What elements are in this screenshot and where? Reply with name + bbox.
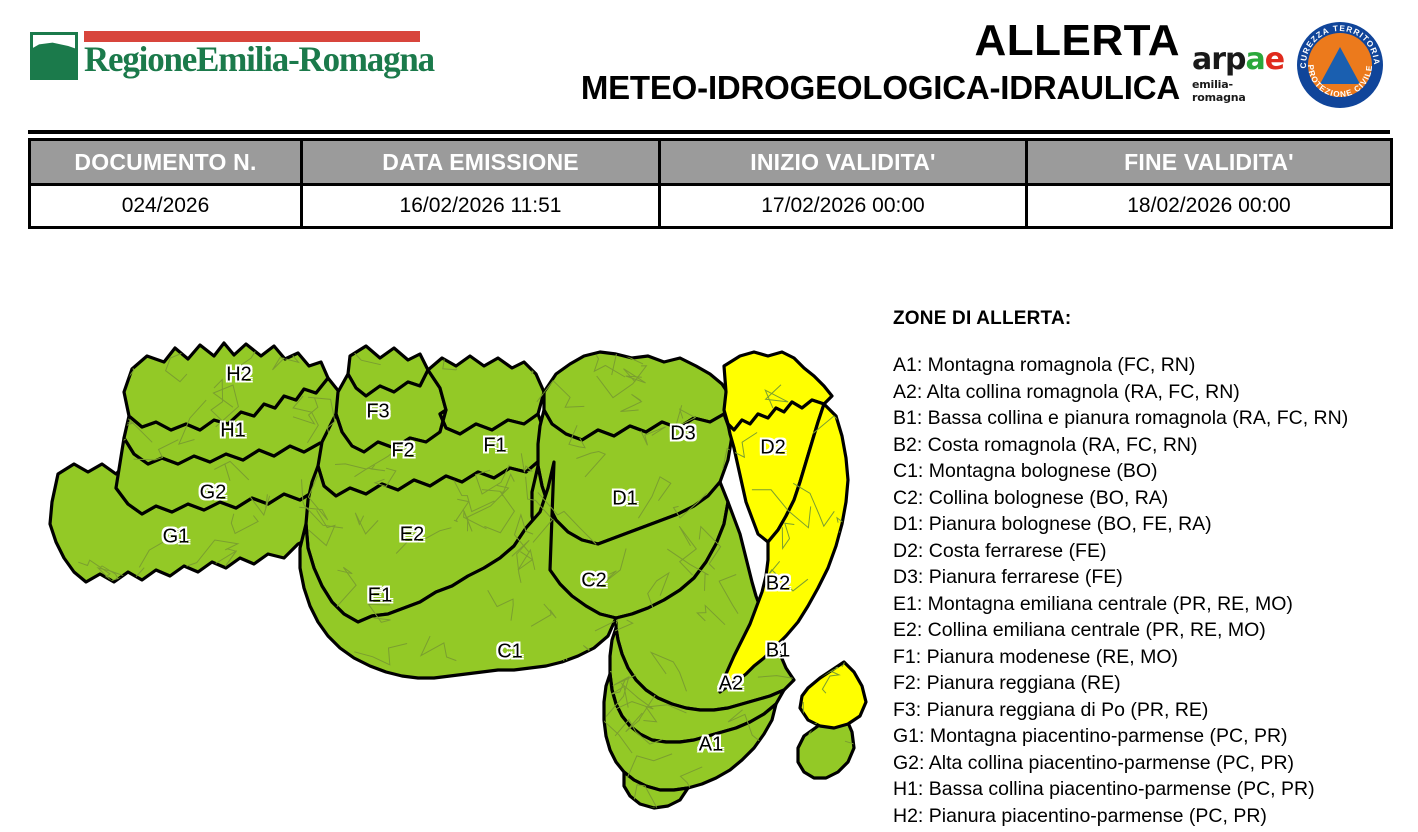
municipality-border [69,729,101,762]
municipality-border [92,591,112,624]
legend-panel: ZONE DI ALLERTA: A1: Montagna romagnola … [893,308,1398,829]
arpae-text-red: e [1265,42,1284,77]
pc-bottom-arc-path: PROTEZIONE CIVILE [1306,64,1374,99]
municipality-border [146,707,195,727]
td-documento-n: 024/2026 [30,185,302,228]
legend-item: F2: Pianura reggiana (RE) [893,670,1398,697]
municipality-border [177,663,202,683]
page-header: RegioneEmilia-Romagna ALLERTA METEO-IDRO… [0,0,1418,126]
municipality-border [309,706,329,732]
municipality-border [268,568,297,615]
legend-item: B1: Bassa collina e pianura romagnola (R… [893,405,1398,432]
legend-item: F1: Pianura modenese (RE, MO) [893,644,1398,671]
municipality-border [285,713,302,732]
page-subtitle: METEO-IDROGEOLOGICA-IDRAULICA [0,70,1180,106]
legend-item: A2: Alta collina romagnola (RA, FC, RN) [893,379,1398,406]
municipality-border [382,682,439,711]
legend-item: G1: Montagna piacentino-parmense (PC, PR… [893,723,1398,750]
legend-item: G2: Alta collina piacentino-parmense (PC… [893,750,1398,777]
legend-item: H1: Bassa collina piacentino-parmense (P… [893,776,1398,803]
municipality-border [124,732,152,789]
municipality-border [200,588,211,609]
municipality-border [236,624,262,649]
municipality-border [566,658,590,676]
map-svg [28,296,873,816]
th-documento-n: DOCUMENTO N. [30,140,302,185]
alert-zones-map: H2H1G2G1F3F2F1E2E1D3D1D2C2C1B2B1A2A1 [28,296,873,816]
municipality-border [33,414,62,426]
municipality-border [238,576,278,604]
legend-item: E1: Montagna emiliana centrale (PR, RE, … [893,591,1398,618]
legend-item: D3: Pianura ferrarese (FE) [893,564,1398,591]
pc-top-arc-text: SICUREZZA TERRITORIALE [1297,22,1381,68]
pc-bottom-arc-text: PROTEZIONE CIVILE [1306,64,1374,99]
municipality-border [828,806,844,816]
municipality-border [285,681,317,700]
municipality-border [244,758,266,799]
legend-item: D1: Pianura bolognese (BO, FE, RA) [893,511,1398,538]
th-fine-validita: FINE VALIDITA' [1027,140,1392,185]
legend-item: E2: Collina emiliana centrale (PR, RE, M… [893,617,1398,644]
municipality-border [368,791,396,816]
protezione-civile-ring-text: SICUREZZA TERRITORIALE PROTEZIONE CIVILE [1297,22,1383,108]
municipality-border [397,745,418,769]
td-inizio-validita: 17/02/2026 00:00 [660,185,1027,228]
td-fine-validita: 18/02/2026 00:00 [1027,185,1392,228]
arpae-text-black: arp [1192,42,1246,77]
municipality-border [583,645,612,672]
municipality-border [28,354,69,394]
municipality-border [138,786,158,814]
arpae-logo: arpae emilia-romagna [1192,45,1284,97]
municipality-border [352,708,379,725]
municipality-border [73,407,94,448]
municipality-border [174,693,201,713]
municipality-border [605,802,627,816]
page-title: ALLERTA [0,18,1180,64]
municipality-border [504,804,540,816]
arpae-text-green: a [1246,42,1265,77]
th-data-emissione: DATA EMISSIONE [302,140,660,185]
pc-top-arc-path: SICUREZZA TERRITORIALE [1297,22,1381,68]
municipality-border [323,300,365,340]
th-inizio-validita: INIZIO VALIDITA' [660,140,1027,185]
municipality-border [527,336,544,349]
arpae-subtitle: emilia-romagna [1192,78,1284,104]
table-row: 024/2026 16/02/2026 11:51 17/02/2026 00:… [30,185,1392,228]
municipality-border [194,726,238,753]
td-data-emissione: 16/02/2026 11:51 [302,185,660,228]
legend-item: C2: Collina bolognese (BO, RA) [893,485,1398,512]
legend-item: F3: Pianura reggiana di Po (PR, RE) [893,697,1398,724]
municipality-border [550,797,581,816]
municipality-border [560,756,580,784]
municipality-border [433,780,460,816]
header-divider [28,130,1390,134]
legend-title: ZONE DI ALLERTA: [893,308,1398,330]
legend-item: D2: Costa ferrarese (FE) [893,538,1398,565]
legend-item: B2: Costa romagnola (RA, FC, RN) [893,432,1398,459]
protezione-civile-logo: SICUREZZA TERRITORIALE PROTEZIONE CIVILE [1297,22,1383,108]
municipality-border [454,324,465,355]
legend-item: H2: Pianura piacentino-parmense (PC, PR) [893,803,1398,830]
municipality-border [521,758,534,780]
legend-item: A1: Montagna romagnola (FC, RN) [893,352,1398,379]
table-header-row: DOCUMENTO N. DATA EMISSIONE INIZIO VALID… [30,140,1392,185]
municipality-border [308,777,351,803]
municipality-border [217,777,248,812]
legend-list: A1: Montagna romagnola (FC, RN)A2: Alta … [893,352,1398,829]
municipality-border [101,328,150,356]
municipality-border [559,660,577,707]
municipality-border [391,718,429,752]
municipality-border [316,729,340,752]
document-info-table: DOCUMENTO N. DATA EMISSIONE INIZIO VALID… [28,138,1393,229]
municipality-border [809,608,849,667]
municipality-border [164,786,186,816]
municipality-border [471,774,493,800]
legend-item: C1: Montagna bolognese (BO) [893,458,1398,485]
municipality-border [208,770,265,783]
municipality-border [285,617,305,670]
municipality-border [300,685,322,732]
arpae-wordmark: arpae [1192,45,1284,75]
municipality-border [165,674,177,705]
